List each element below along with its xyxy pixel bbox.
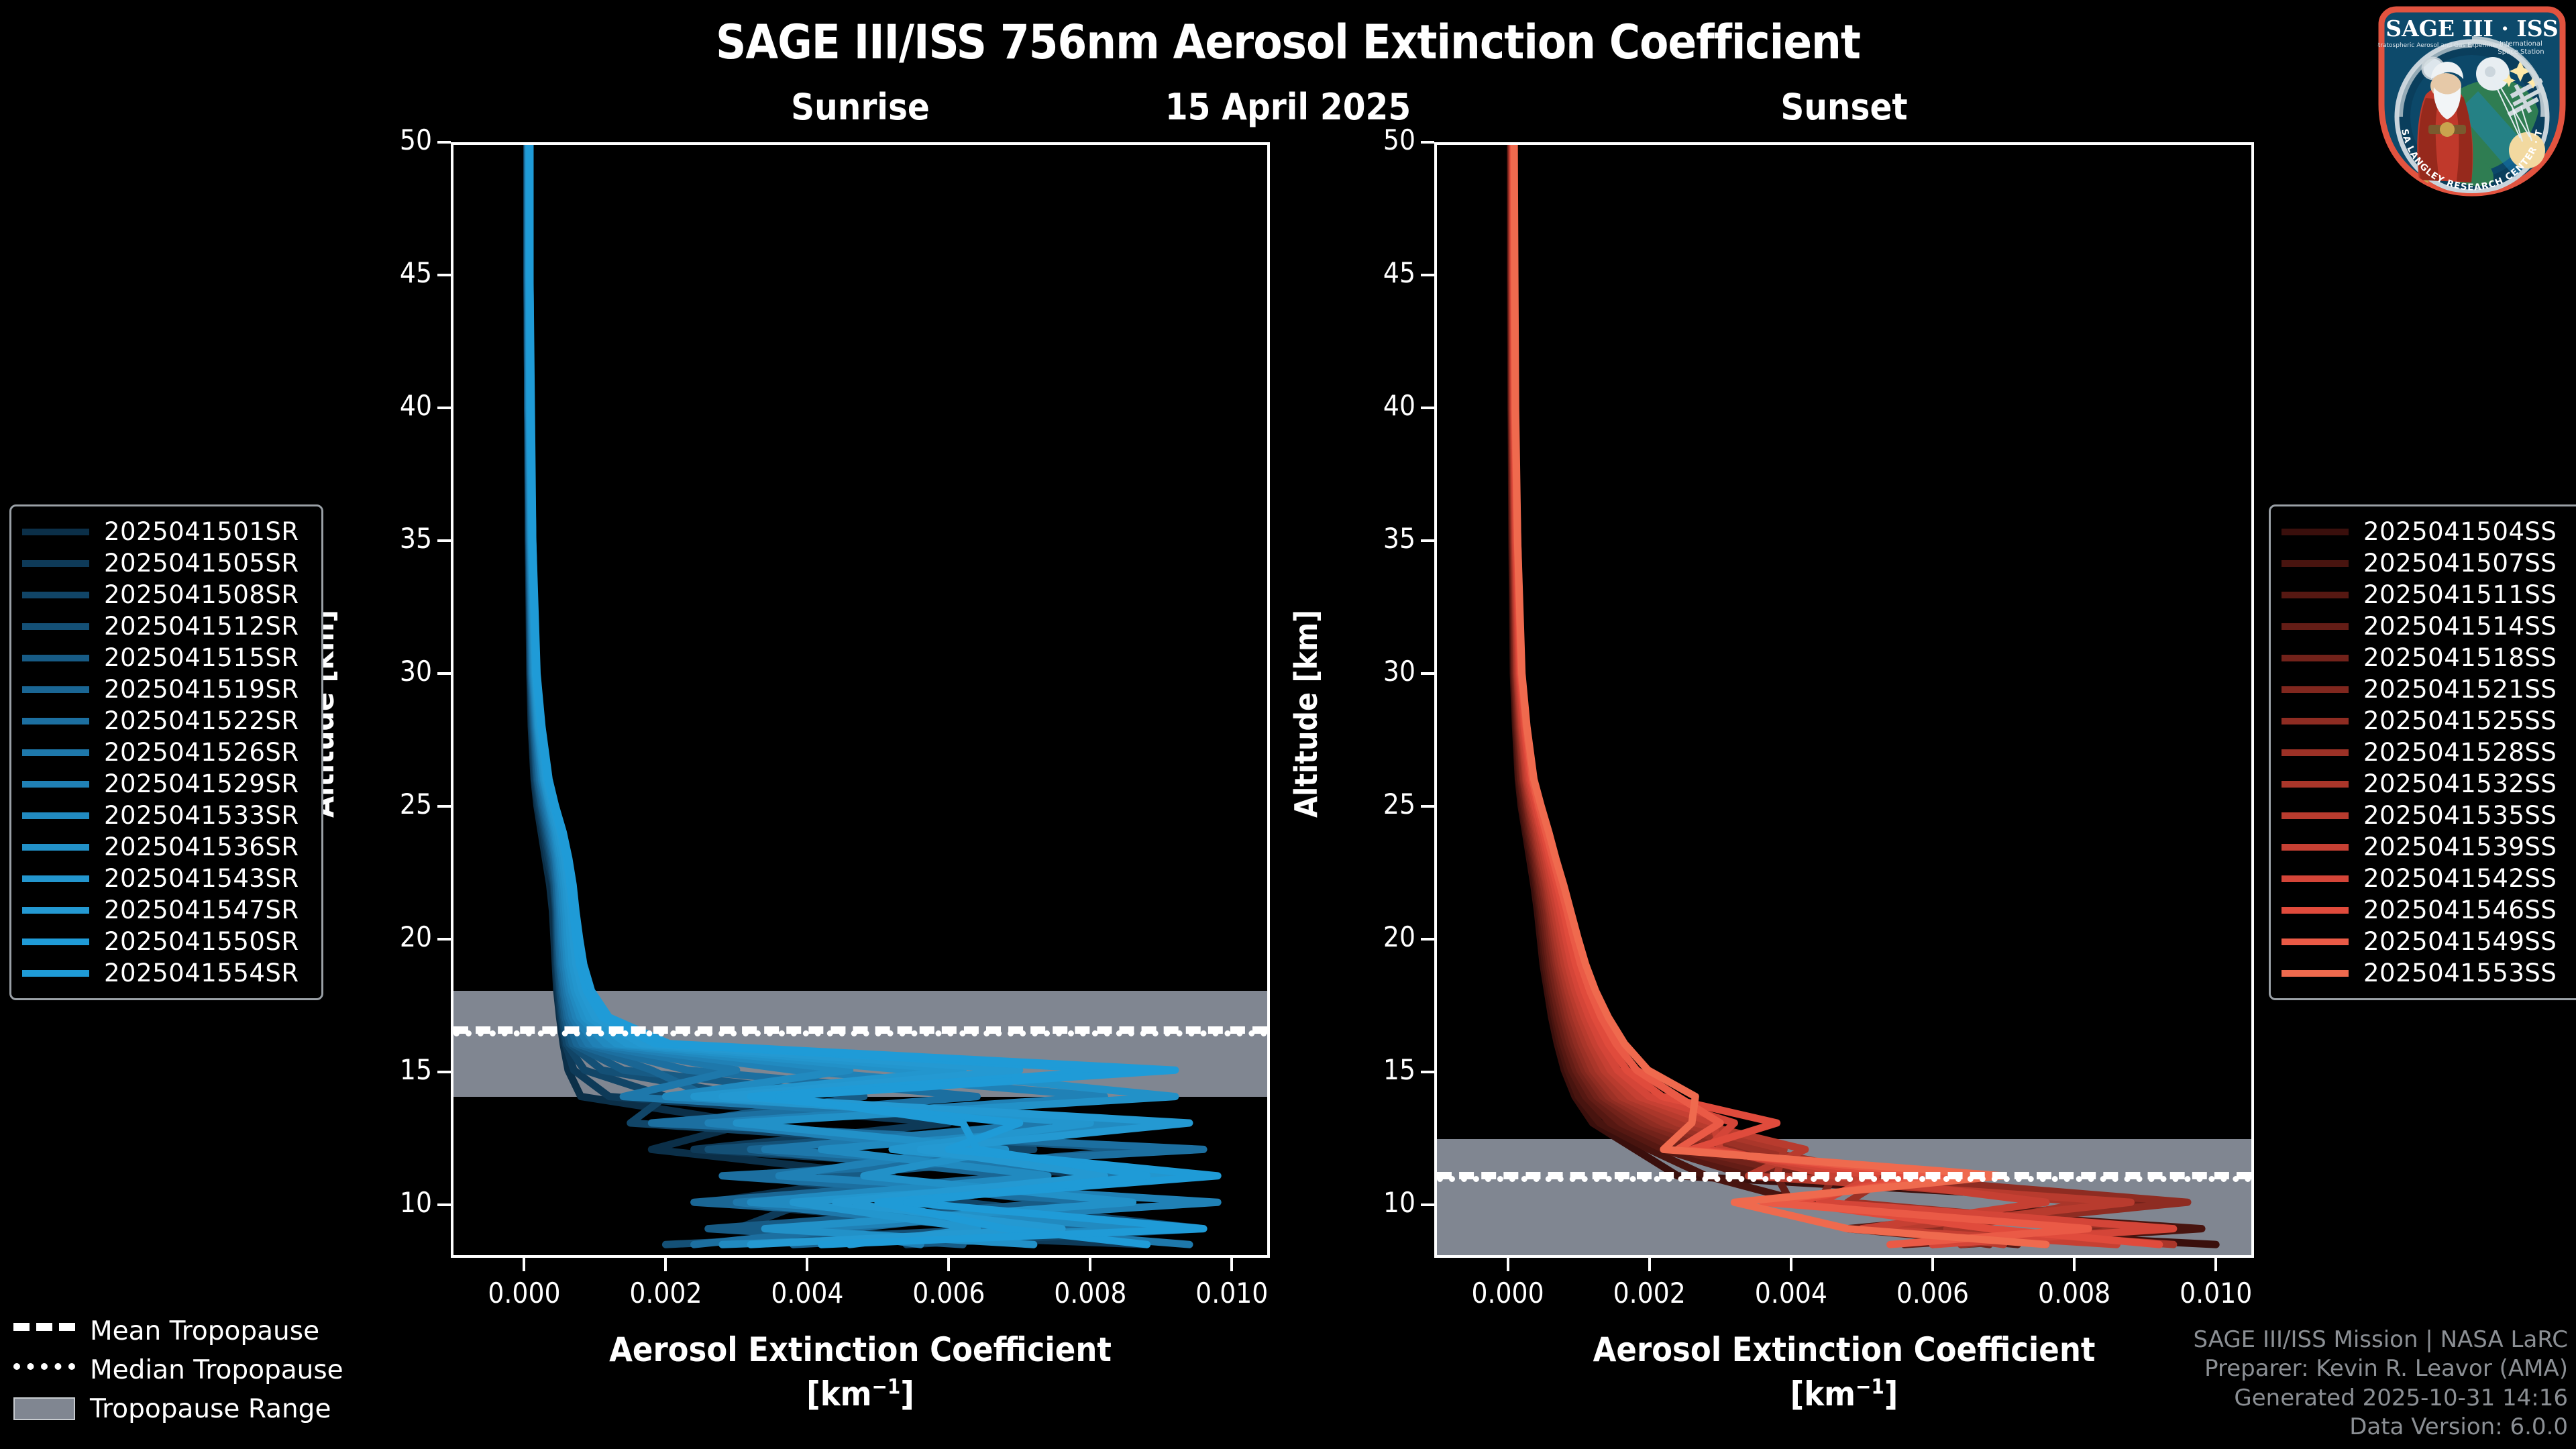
x-tick-mark	[1230, 1258, 1233, 1271]
x-tick-label: 0.000	[443, 1277, 604, 1309]
legend-color-swatch	[22, 938, 89, 945]
legend-item[interactable]: 2025041519SR	[22, 674, 311, 705]
x-axis-label: Aerosol Extinction Coefficient[km−1]	[451, 1330, 1270, 1413]
logo-subtitle-right-1: International	[2500, 40, 2542, 48]
y-tick-mark	[437, 539, 451, 542]
legend-label: 2025041512SR	[104, 612, 299, 641]
x-tick-mark	[523, 1258, 525, 1271]
y-tick-mark	[437, 141, 451, 144]
x-tick-label: 0.000	[1428, 1277, 1589, 1309]
logo-subtitle-right-2: Space Station	[2498, 48, 2544, 56]
legend-label: 2025041547SR	[104, 896, 299, 924]
y-tick-label: 45	[1315, 256, 1415, 289]
legend-label: 2025041511SS	[2363, 580, 2557, 609]
legend-item[interactable]: 2025041515SR	[22, 642, 311, 674]
legend-label: 2025041505SR	[104, 549, 299, 578]
legend-color-swatch	[22, 812, 89, 819]
legend-color-swatch	[2282, 749, 2349, 756]
logo-subtitle-left: Stratospheric Aerosol and Gas Experiment…	[2377, 42, 2510, 49]
legend-label: 2025041522SR	[104, 706, 299, 735]
y-tick-mark	[1421, 274, 1434, 276]
legend-color-swatch	[22, 844, 89, 851]
y-tick-mark	[437, 407, 451, 409]
legend-label: 2025041542SS	[2363, 864, 2557, 893]
y-tick-mark	[1421, 805, 1434, 808]
credits-line-1: SAGE III/ISS Mission | NASA LaRC	[2193, 1326, 2568, 1355]
median-tropopause-line	[453, 1030, 1267, 1036]
sunrise-series-legend[interactable]: 2025041501SR2025041505SR2025041508SR2025…	[9, 504, 323, 1000]
legend-item[interactable]: 2025041508SR	[22, 579, 311, 610]
legend-label: 2025041521SS	[2363, 675, 2557, 704]
legend-label: 2025041549SS	[2363, 927, 2557, 956]
legend-label: 2025041526SR	[104, 738, 299, 767]
legend-label: 2025041501SR	[104, 517, 299, 546]
legend-color-swatch	[22, 655, 89, 661]
legend-color-swatch	[2282, 592, 2349, 598]
x-tick-label: 0.010	[2135, 1277, 2296, 1309]
tropopause-legend: Mean Tropopause Median Tropopause Tropop…	[13, 1311, 362, 1428]
x-axis-label-line1: Aerosol Extinction Coefficient	[1434, 1330, 2254, 1369]
y-tick-label: 20	[1315, 920, 1415, 953]
legend-item-median-tropopause: Median Tropopause	[13, 1350, 362, 1389]
credits-line-4: Data Version: 6.0.0	[2193, 1413, 2568, 1442]
sage-iii-iss-mission-patch-logo: SAGE III · ISS Stratospheric Aerosol and…	[2377, 4, 2567, 199]
x-tick-mark	[947, 1258, 950, 1271]
x-axis-label: Aerosol Extinction Coefficient[km−1]	[1434, 1330, 2254, 1413]
x-tick-mark	[1648, 1258, 1651, 1271]
legend-label: 2025041536SR	[104, 833, 299, 861]
sunset-panel-label: Sunset	[1434, 86, 2254, 128]
y-tick-mark	[1421, 938, 1434, 941]
legend-color-swatch	[22, 718, 89, 724]
legend-item[interactable]: 2025041542SS	[2282, 863, 2576, 894]
y-tick-mark	[1421, 407, 1434, 409]
legend-item[interactable]: 2025041522SR	[22, 705, 311, 737]
logo-title: SAGE III · ISS	[2385, 15, 2558, 42]
x-tick-label: 0.002	[1569, 1277, 1730, 1309]
legend-item[interactable]: 2025041532SS	[2282, 768, 2576, 800]
y-tick-mark	[437, 805, 451, 808]
dotted-line-icon	[13, 1363, 75, 1377]
x-axis-label-line2: [km−1]	[1434, 1375, 2254, 1413]
y-axis-label: Altitude [km]	[1288, 610, 1324, 818]
legend-color-swatch	[22, 907, 89, 914]
legend-color-swatch	[2282, 686, 2349, 693]
legend-color-swatch	[22, 875, 89, 882]
legend-item[interactable]: 2025041505SR	[22, 547, 311, 579]
legend-item[interactable]: 2025041525SS	[2282, 705, 2576, 737]
x-tick-mark	[664, 1258, 667, 1271]
y-tick-label: 10	[1315, 1186, 1415, 1219]
legend-item[interactable]: 2025041526SR	[22, 737, 311, 768]
legend-item[interactable]: 2025041518SS	[2282, 642, 2576, 674]
legend-label-mean-tropopause: Mean Tropopause	[90, 1316, 319, 1346]
y-tick-label: 25	[331, 788, 432, 820]
legend-item[interactable]: 2025041533SR	[22, 800, 311, 831]
legend-label-tropopause-range: Tropopause Range	[90, 1394, 331, 1424]
y-tick-label: 30	[1315, 655, 1415, 688]
legend-label: 2025041529SR	[104, 769, 299, 798]
legend-color-swatch	[22, 592, 89, 598]
legend-color-swatch	[22, 749, 89, 756]
legend-color-swatch	[2282, 718, 2349, 724]
y-tick-label: 15	[1315, 1053, 1415, 1086]
y-tick-label: 45	[331, 256, 432, 289]
legend-label: 2025041550SR	[104, 927, 299, 956]
y-tick-mark	[437, 1071, 451, 1073]
legend-item[interactable]: 2025041529SR	[22, 768, 311, 800]
legend-item[interactable]: 2025041512SR	[22, 610, 311, 642]
y-tick-mark	[437, 274, 451, 276]
legend-label-median-tropopause: Median Tropopause	[90, 1355, 343, 1385]
y-tick-label: 30	[331, 655, 432, 688]
legend-color-swatch	[2282, 938, 2349, 945]
sunrise-plot-panel[interactable]	[451, 142, 1270, 1258]
legend-label: 2025041539SS	[2363, 833, 2557, 861]
x-tick-label: 0.008	[1994, 1277, 2155, 1309]
legend-color-swatch	[2282, 655, 2349, 661]
y-tick-label: 25	[1315, 788, 1415, 820]
x-axis-label-line1: Aerosol Extinction Coefficient	[451, 1330, 1270, 1369]
y-tick-mark	[437, 672, 451, 675]
legend-label: 2025041515SR	[104, 643, 299, 672]
legend-color-swatch	[22, 970, 89, 977]
legend-item[interactable]: 2025041547SR	[22, 894, 311, 926]
y-tick-label: 50	[1315, 123, 1415, 156]
filled-band-icon	[13, 1397, 75, 1420]
y-tick-label: 50	[331, 123, 432, 156]
legend-label: 2025041546SS	[2363, 896, 2557, 924]
legend-label: 2025041518SS	[2363, 643, 2557, 672]
legend-color-swatch	[2282, 623, 2349, 630]
legend-item[interactable]: 2025041553SS	[2282, 957, 2576, 989]
x-tick-mark	[1931, 1258, 1934, 1271]
legend-label: 2025041528SS	[2363, 738, 2557, 767]
legend-item[interactable]: 2025041501SR	[22, 516, 311, 547]
x-tick-label: 0.006	[868, 1277, 1029, 1309]
y-tick-mark	[1421, 539, 1434, 542]
legend-label: 2025041533SR	[104, 801, 299, 830]
x-tick-mark	[2214, 1258, 2217, 1271]
y-tick-label: 20	[331, 920, 432, 953]
legend-item[interactable]: 2025041546SS	[2282, 894, 2576, 926]
legend-item[interactable]: 2025041549SS	[2282, 926, 2576, 957]
legend-label: 2025041554SR	[104, 959, 299, 987]
x-tick-mark	[1507, 1258, 1509, 1271]
x-tick-label: 0.002	[585, 1277, 746, 1309]
x-tick-label: 0.004	[1711, 1277, 1872, 1309]
legend-color-swatch	[22, 560, 89, 567]
legend-item[interactable]: 2025041514SS	[2282, 610, 2576, 642]
x-tick-mark	[806, 1258, 808, 1271]
y-tick-label: 35	[1315, 522, 1415, 555]
median-tropopause-line	[1437, 1176, 2251, 1182]
legend-item-mean-tropopause: Mean Tropopause	[13, 1311, 362, 1350]
x-axis-label-line2: [km−1]	[451, 1375, 1270, 1413]
sunset-plot-panel[interactable]	[1434, 142, 2254, 1258]
legend-item[interactable]: 2025041528SS	[2282, 737, 2576, 768]
legend-item[interactable]: 2025041504SS	[2282, 516, 2576, 547]
legend-color-swatch	[22, 781, 89, 788]
legend-color-swatch	[22, 529, 89, 535]
y-tick-mark	[437, 938, 451, 941]
page-title: SAGE III/ISS 756nm Aerosol Extinction Co…	[0, 15, 2576, 70]
legend-label: 2025041504SS	[2363, 517, 2557, 546]
y-tick-mark	[1421, 1203, 1434, 1206]
legend-item[interactable]: 2025041543SR	[22, 863, 311, 894]
x-tick-label: 0.006	[1852, 1277, 2013, 1309]
credits-line-2: Preparer: Kevin R. Leavor (AMA)	[2193, 1354, 2568, 1384]
legend-color-swatch	[2282, 875, 2349, 882]
legend-label: 2025041507SS	[2363, 549, 2557, 578]
legend-item[interactable]: 2025041550SR	[22, 926, 311, 957]
y-tick-label: 10	[331, 1186, 432, 1219]
legend-label: 2025041543SR	[104, 864, 299, 893]
legend-item[interactable]: 2025041536SR	[22, 831, 311, 863]
legend-label: 2025041553SS	[2363, 959, 2557, 987]
y-tick-label: 40	[331, 389, 432, 422]
x-tick-mark	[1089, 1258, 1091, 1271]
credits-block: SAGE III/ISS Mission | NASA LaRCPreparer…	[2193, 1326, 2568, 1442]
legend-item[interactable]: 2025041539SS	[2282, 831, 2576, 863]
legend-item-tropopause-range: Tropopause Range	[13, 1389, 362, 1428]
y-tick-mark	[1421, 1071, 1434, 1073]
profile-traces	[453, 145, 1267, 1255]
sunset-series-legend[interactable]: 2025041504SS2025041507SS2025041511SS2025…	[2269, 504, 2576, 1000]
legend-item[interactable]: 2025041511SS	[2282, 579, 2576, 610]
x-tick-label: 0.004	[727, 1277, 888, 1309]
legend-color-swatch	[2282, 529, 2349, 535]
y-tick-mark	[437, 1203, 451, 1206]
legend-color-swatch	[22, 686, 89, 693]
legend-item[interactable]: 2025041507SS	[2282, 547, 2576, 579]
legend-color-swatch	[2282, 812, 2349, 819]
legend-color-swatch	[22, 623, 89, 630]
legend-label: 2025041508SR	[104, 580, 299, 609]
legend-color-swatch	[2282, 907, 2349, 914]
credits-line-3: Generated 2025-10-31 14:16	[2193, 1384, 2568, 1413]
y-tick-label: 35	[331, 522, 432, 555]
legend-color-swatch	[2282, 970, 2349, 977]
x-tick-label: 0.010	[1151, 1277, 1312, 1309]
y-tick-mark	[1421, 141, 1434, 144]
legend-color-swatch	[2282, 560, 2349, 567]
legend-item[interactable]: 2025041535SS	[2282, 800, 2576, 831]
x-tick-label: 0.008	[1010, 1277, 1171, 1309]
x-tick-mark	[1790, 1258, 1792, 1271]
y-tick-label: 15	[331, 1053, 432, 1086]
legend-label: 2025041532SS	[2363, 769, 2557, 798]
y-tick-mark	[1421, 672, 1434, 675]
legend-item[interactable]: 2025041554SR	[22, 957, 311, 989]
legend-label: 2025041519SR	[104, 675, 299, 704]
legend-color-swatch	[2282, 781, 2349, 788]
y-tick-label: 40	[1315, 389, 1415, 422]
profile-traces	[1437, 145, 2251, 1255]
legend-label: 2025041514SS	[2363, 612, 2557, 641]
legend-label: 2025041535SS	[2363, 801, 2557, 830]
legend-color-swatch	[2282, 844, 2349, 851]
x-tick-mark	[2073, 1258, 2076, 1271]
legend-item[interactable]: 2025041521SS	[2282, 674, 2576, 705]
legend-label: 2025041525SS	[2363, 706, 2557, 735]
dashed-line-icon	[13, 1323, 75, 1339]
